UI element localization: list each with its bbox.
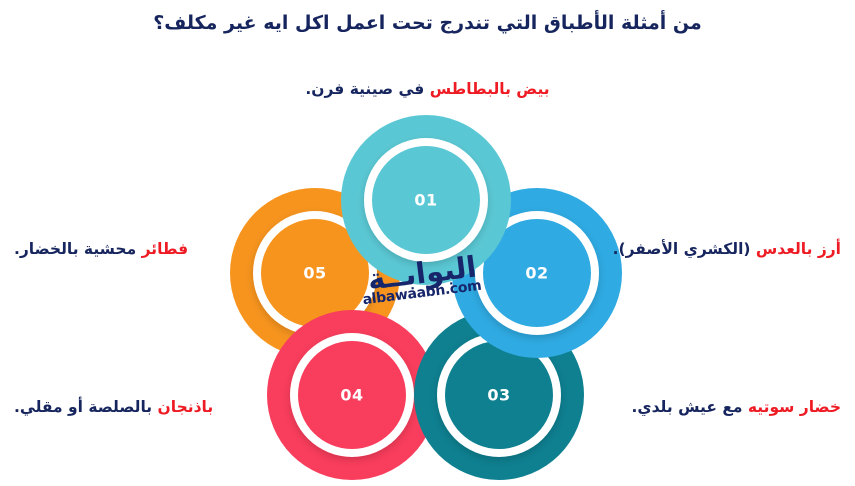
callout-label-05: فطائر محشية بالخضار. [14, 238, 188, 260]
page-title: من أمثلة الأطباق التي تندرج تحت اعمل اكل… [0, 10, 855, 36]
callout-01-highlight: بيض بالبطاطس [430, 80, 550, 98]
brand-logo: البوابــة albawaabh.com [352, 258, 492, 334]
callout-01-rest: في صينية فرن. [305, 80, 429, 98]
petal-04-core[interactable] [298, 341, 406, 449]
petal-04[interactable] [267, 310, 437, 480]
callout-02-highlight: أرز بالعدس [756, 240, 841, 258]
callout-05-highlight: فطائر [142, 240, 189, 258]
callout-02-rest: (الكشري الأصفر). [613, 240, 756, 258]
callout-label-04: باذنجان بالصلصة أو مقلي. [14, 396, 213, 418]
callout-03-highlight: خضار سوتيه [748, 398, 841, 416]
callout-04-highlight: باذنجان [158, 398, 214, 416]
callout-label-01: بيض بالبطاطس في صينية فرن. [0, 78, 855, 100]
callout-label-02: أرز بالعدس (الكشري الأصفر). [613, 238, 841, 260]
callout-05-rest: محشية بالخضار. [14, 240, 142, 258]
callout-label-03: خضار سوتيه مع عيش بلدي. [632, 396, 842, 418]
petal-01-core[interactable] [372, 146, 480, 254]
callout-04-rest: بالصلصة أو مقلي. [14, 398, 158, 416]
callout-03-rest: مع عيش بلدي. [632, 398, 748, 416]
